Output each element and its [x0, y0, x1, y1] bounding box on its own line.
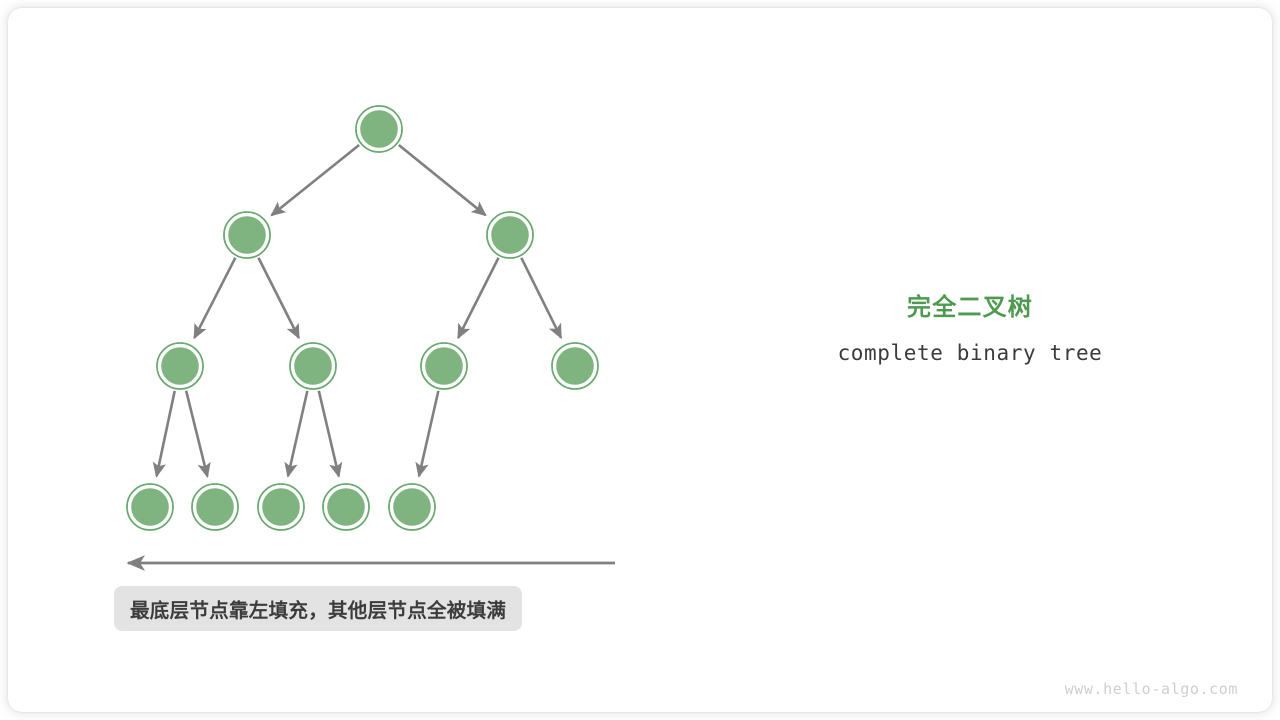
tree-node[interactable] — [323, 484, 369, 530]
tree-node[interactable] — [127, 484, 173, 530]
tree-node-body — [491, 216, 529, 254]
tree-node[interactable] — [389, 484, 435, 530]
tree-edge — [319, 391, 339, 477]
tree-node-body — [294, 347, 332, 385]
tree-edge — [419, 391, 438, 476]
figure-title-en: complete binary tree — [760, 341, 1180, 365]
tree-edge — [458, 258, 498, 338]
tree-node-body — [228, 216, 266, 254]
tree-node-body — [262, 488, 300, 526]
tree-node[interactable] — [356, 106, 402, 152]
tree-node-body — [425, 347, 463, 385]
tree-node[interactable] — [290, 343, 336, 389]
tree-edge — [272, 145, 360, 215]
figure-label-block: 完全二叉树 complete binary tree — [760, 292, 1180, 365]
tree-node-body — [360, 110, 398, 148]
tree-node-body — [556, 347, 594, 385]
tree-node-body — [196, 488, 234, 526]
tree-node-body — [161, 347, 199, 385]
tree-edge — [186, 391, 207, 477]
tree-edge — [258, 258, 298, 338]
figure-canvas: 最底层节点靠左填充，其他层节点全被填满 完全二叉树 complete binar… — [0, 0, 1280, 720]
annotation-caption: 最底层节点靠左填充，其他层节点全被填满 — [114, 586, 522, 631]
edge-layer — [157, 145, 561, 476]
tree-node-body — [327, 488, 365, 526]
tree-node[interactable] — [552, 343, 598, 389]
tree-node-body — [393, 488, 431, 526]
tree-edge — [521, 258, 561, 338]
tree-edge — [399, 145, 486, 215]
tree-edge — [157, 391, 175, 476]
tree-node[interactable] — [157, 343, 203, 389]
tree-node-body — [131, 488, 169, 526]
tree-node[interactable] — [192, 484, 238, 530]
node-layer — [127, 106, 598, 530]
tree-node[interactable] — [421, 343, 467, 389]
figure-title-zh: 完全二叉树 — [760, 292, 1180, 322]
tree-node[interactable] — [487, 212, 533, 258]
site-watermark: www.hello-algo.com — [1065, 680, 1238, 698]
tree-edge — [288, 391, 307, 476]
tree-node[interactable] — [258, 484, 304, 530]
tree-edge — [194, 258, 235, 338]
tree-node[interactable] — [224, 212, 270, 258]
